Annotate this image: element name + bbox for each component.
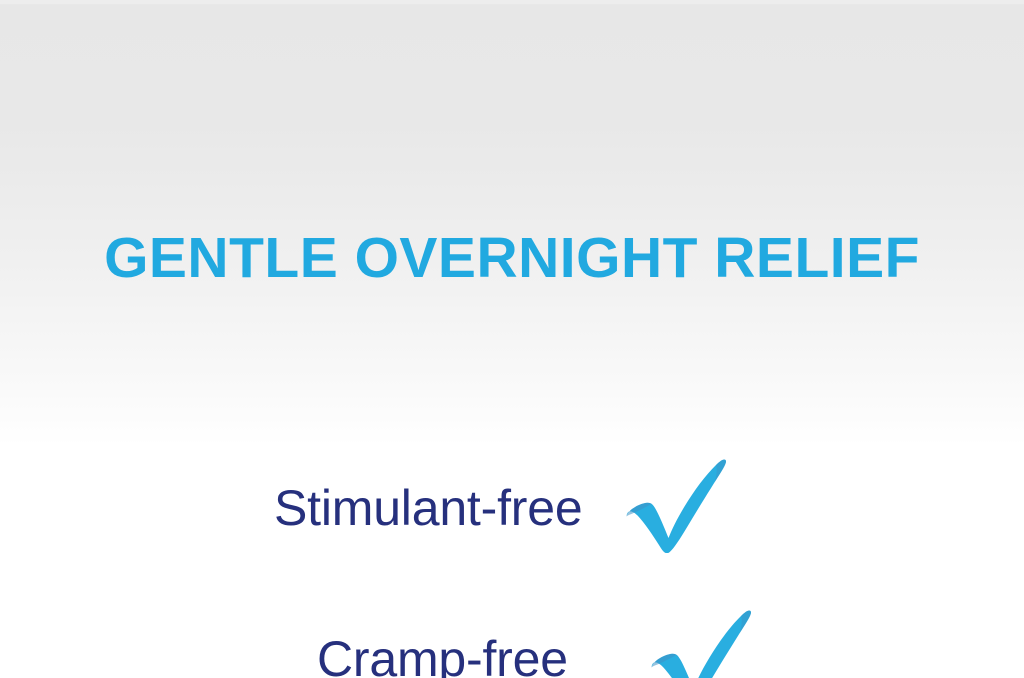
benefit-list: Stimulant-free Cramp-free bbox=[0, 0, 1024, 678]
check-icon bbox=[649, 610, 753, 678]
benefit-label: Stimulant-free bbox=[274, 479, 582, 537]
benefit-item-stimulant-free: Stimulant-free bbox=[274, 463, 728, 553]
check-icon bbox=[624, 459, 728, 553]
benefit-label: Cramp-free bbox=[317, 630, 568, 678]
benefit-item-cramp-free: Cramp-free bbox=[317, 613, 753, 678]
slide-canvas: GENTLE OVERNIGHT RELIEF Stimulant-free C… bbox=[0, 0, 1024, 678]
